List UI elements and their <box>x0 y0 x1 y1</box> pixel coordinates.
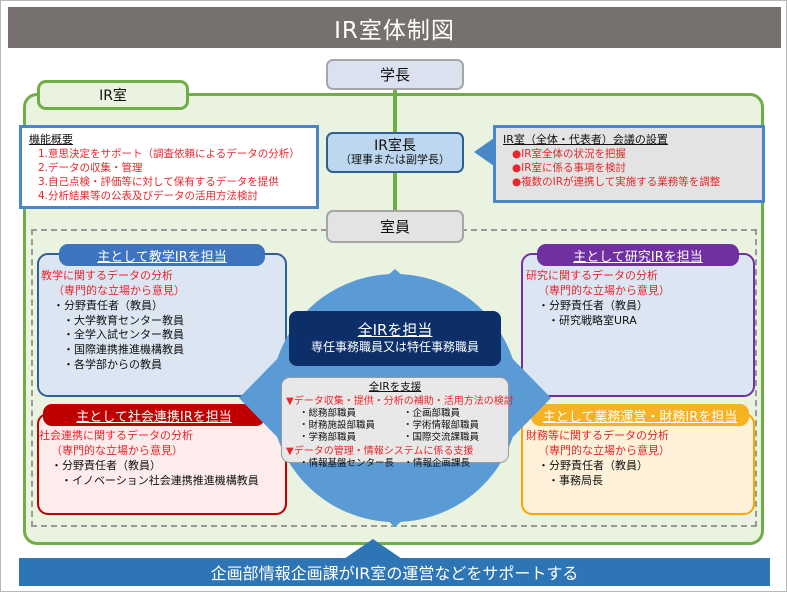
center-all-ir-box: 全IRを担当 専任事務職員又は特任事務職員 <box>289 311 501 366</box>
support-title: 全IRを支援 <box>286 381 504 395</box>
support-group2-title: ▼データの管理・情報システムに係る支援 <box>286 445 504 458</box>
card-social-ir-header: 主として社会連携IRを担当 <box>43 404 265 426</box>
diagram-root: IR室体制図 IR室 学長 IR室長 （理事または副学長） 室員 機能概要 1.… <box>0 0 787 592</box>
center-support-box: 全IRを支援 ▼データ収集・提供・分析の補助・活用方法の検討 ・総務部職員 ・企… <box>281 377 509 463</box>
card-research-ir-header: 主として研究IRを担当 <box>537 244 739 266</box>
support-staff: ・総務部職員 <box>299 408 403 420</box>
center-all-ir-subtitle: 専任事務職員又は特任事務職員 <box>311 340 479 355</box>
ir-office-tab-label: IR室 <box>37 80 189 110</box>
support-group1-row: ・総務部職員 ・企画部職員 <box>286 408 504 420</box>
function-overview-item: 1.意思決定をサポート（調査依頼によるデータの分析） <box>29 148 309 162</box>
box-ir-chief: IR室長 （理事または副学長） <box>326 132 464 173</box>
card-research-ir-header-label: 主として研究IRを担当 <box>573 246 702 265</box>
function-overview-box: 機能概要 1.意思決定をサポート（調査依頼によるデータの分析） 2.データの収集… <box>19 125 319 209</box>
finance-item: ・分野責任者（教員） <box>526 459 754 474</box>
support-group1-row: ・学務部職員 ・国際交流課職員 <box>286 432 504 444</box>
ir-meeting-title: IR室（全体・代表者）会議の設置 <box>503 133 755 148</box>
arrow-left-icon <box>474 138 494 166</box>
support-staff: ・財務施設部職員 <box>299 420 403 432</box>
card-finance-ir-header: 主として業務運営・財務IRを担当 <box>531 404 749 426</box>
card-social-ir-header-label: 主として社会連携IRを担当 <box>76 406 231 425</box>
research-lead-2: （専門的な立場から意見） <box>526 284 754 299</box>
ir-meeting-item: ●IR室に係る事項を検討 <box>503 162 755 176</box>
ir-meeting-item: ●IR室全体の状況を把握 <box>503 148 755 162</box>
research-item: ・研究戦略室URA <box>526 314 754 329</box>
card-teaching-ir-header-label: 主として教学IRを担当 <box>97 246 226 265</box>
support-staff: ・企画部職員 <box>403 408 460 420</box>
bottom-support-banner: 企画部情報企画課がIR室の運営などをサポートする <box>19 558 770 586</box>
function-overview-item: 4.分析結果等の公表及びデータの活用方法検討 <box>29 190 309 204</box>
support-staff: ・学務部職員 <box>299 432 403 444</box>
connector-chief-to-member <box>393 171 397 213</box>
support-group1-title: ▼データ収集・提供・分析の補助・活用方法の検討 <box>286 395 504 408</box>
support-group1-row: ・財務施設部職員 ・学術情報部職員 <box>286 420 504 432</box>
page-title: IR室体制図 <box>8 7 781 48</box>
finance-lead-2: （専門的な立場から意見） <box>526 444 754 459</box>
finance-lead-1: 財務等に関するデータの分析 <box>526 429 754 444</box>
box-ir-member: 室員 <box>326 210 464 243</box>
ir-meeting-item: ●複数のIRが連携して実施する業務等を調整 <box>503 176 755 190</box>
support-staff: ・国際交流課職員 <box>403 432 479 444</box>
support-staff: ・学術情報部職員 <box>403 420 479 432</box>
research-item: ・分野責任者（教員） <box>526 299 754 314</box>
box-president: 学長 <box>326 59 464 90</box>
function-overview-item: 3.自己点検・評価等に対して保有するデータを提供 <box>29 176 309 190</box>
card-research-ir-body: 研究に関するデータの分析 （専門的な立場から意見） ・分野責任者（教員） ・研究… <box>526 269 754 328</box>
function-overview-title: 機能概要 <box>29 133 309 148</box>
support-group2-row: ・情報基盤センター長 ・情報企画課長 <box>286 458 504 470</box>
finance-item: ・事務局長 <box>526 474 754 489</box>
connector-president-to-chief <box>393 89 397 134</box>
research-lead-1: 研究に関するデータの分析 <box>526 269 754 284</box>
ir-chief-subtitle: （理事または副学長） <box>340 154 450 166</box>
card-teaching-ir-header: 主として教学IRを担当 <box>59 244 265 266</box>
ir-meeting-box: IR室（全体・代表者）会議の設置 ●IR室全体の状況を把握 ●IR室に係る事項を… <box>493 125 765 203</box>
ir-chief-title: IR室長 <box>374 139 416 154</box>
card-finance-ir-body: 財務等に関するデータの分析 （専門的な立場から意見） ・分野責任者（教員） ・事… <box>526 429 754 488</box>
function-overview-item: 2.データの収集・管理 <box>29 162 309 176</box>
center-all-ir-title: 全IRを担当 <box>358 322 433 339</box>
arrow-up-icon <box>341 539 405 561</box>
card-finance-ir-header-label: 主として業務運営・財務IRを担当 <box>543 406 737 425</box>
